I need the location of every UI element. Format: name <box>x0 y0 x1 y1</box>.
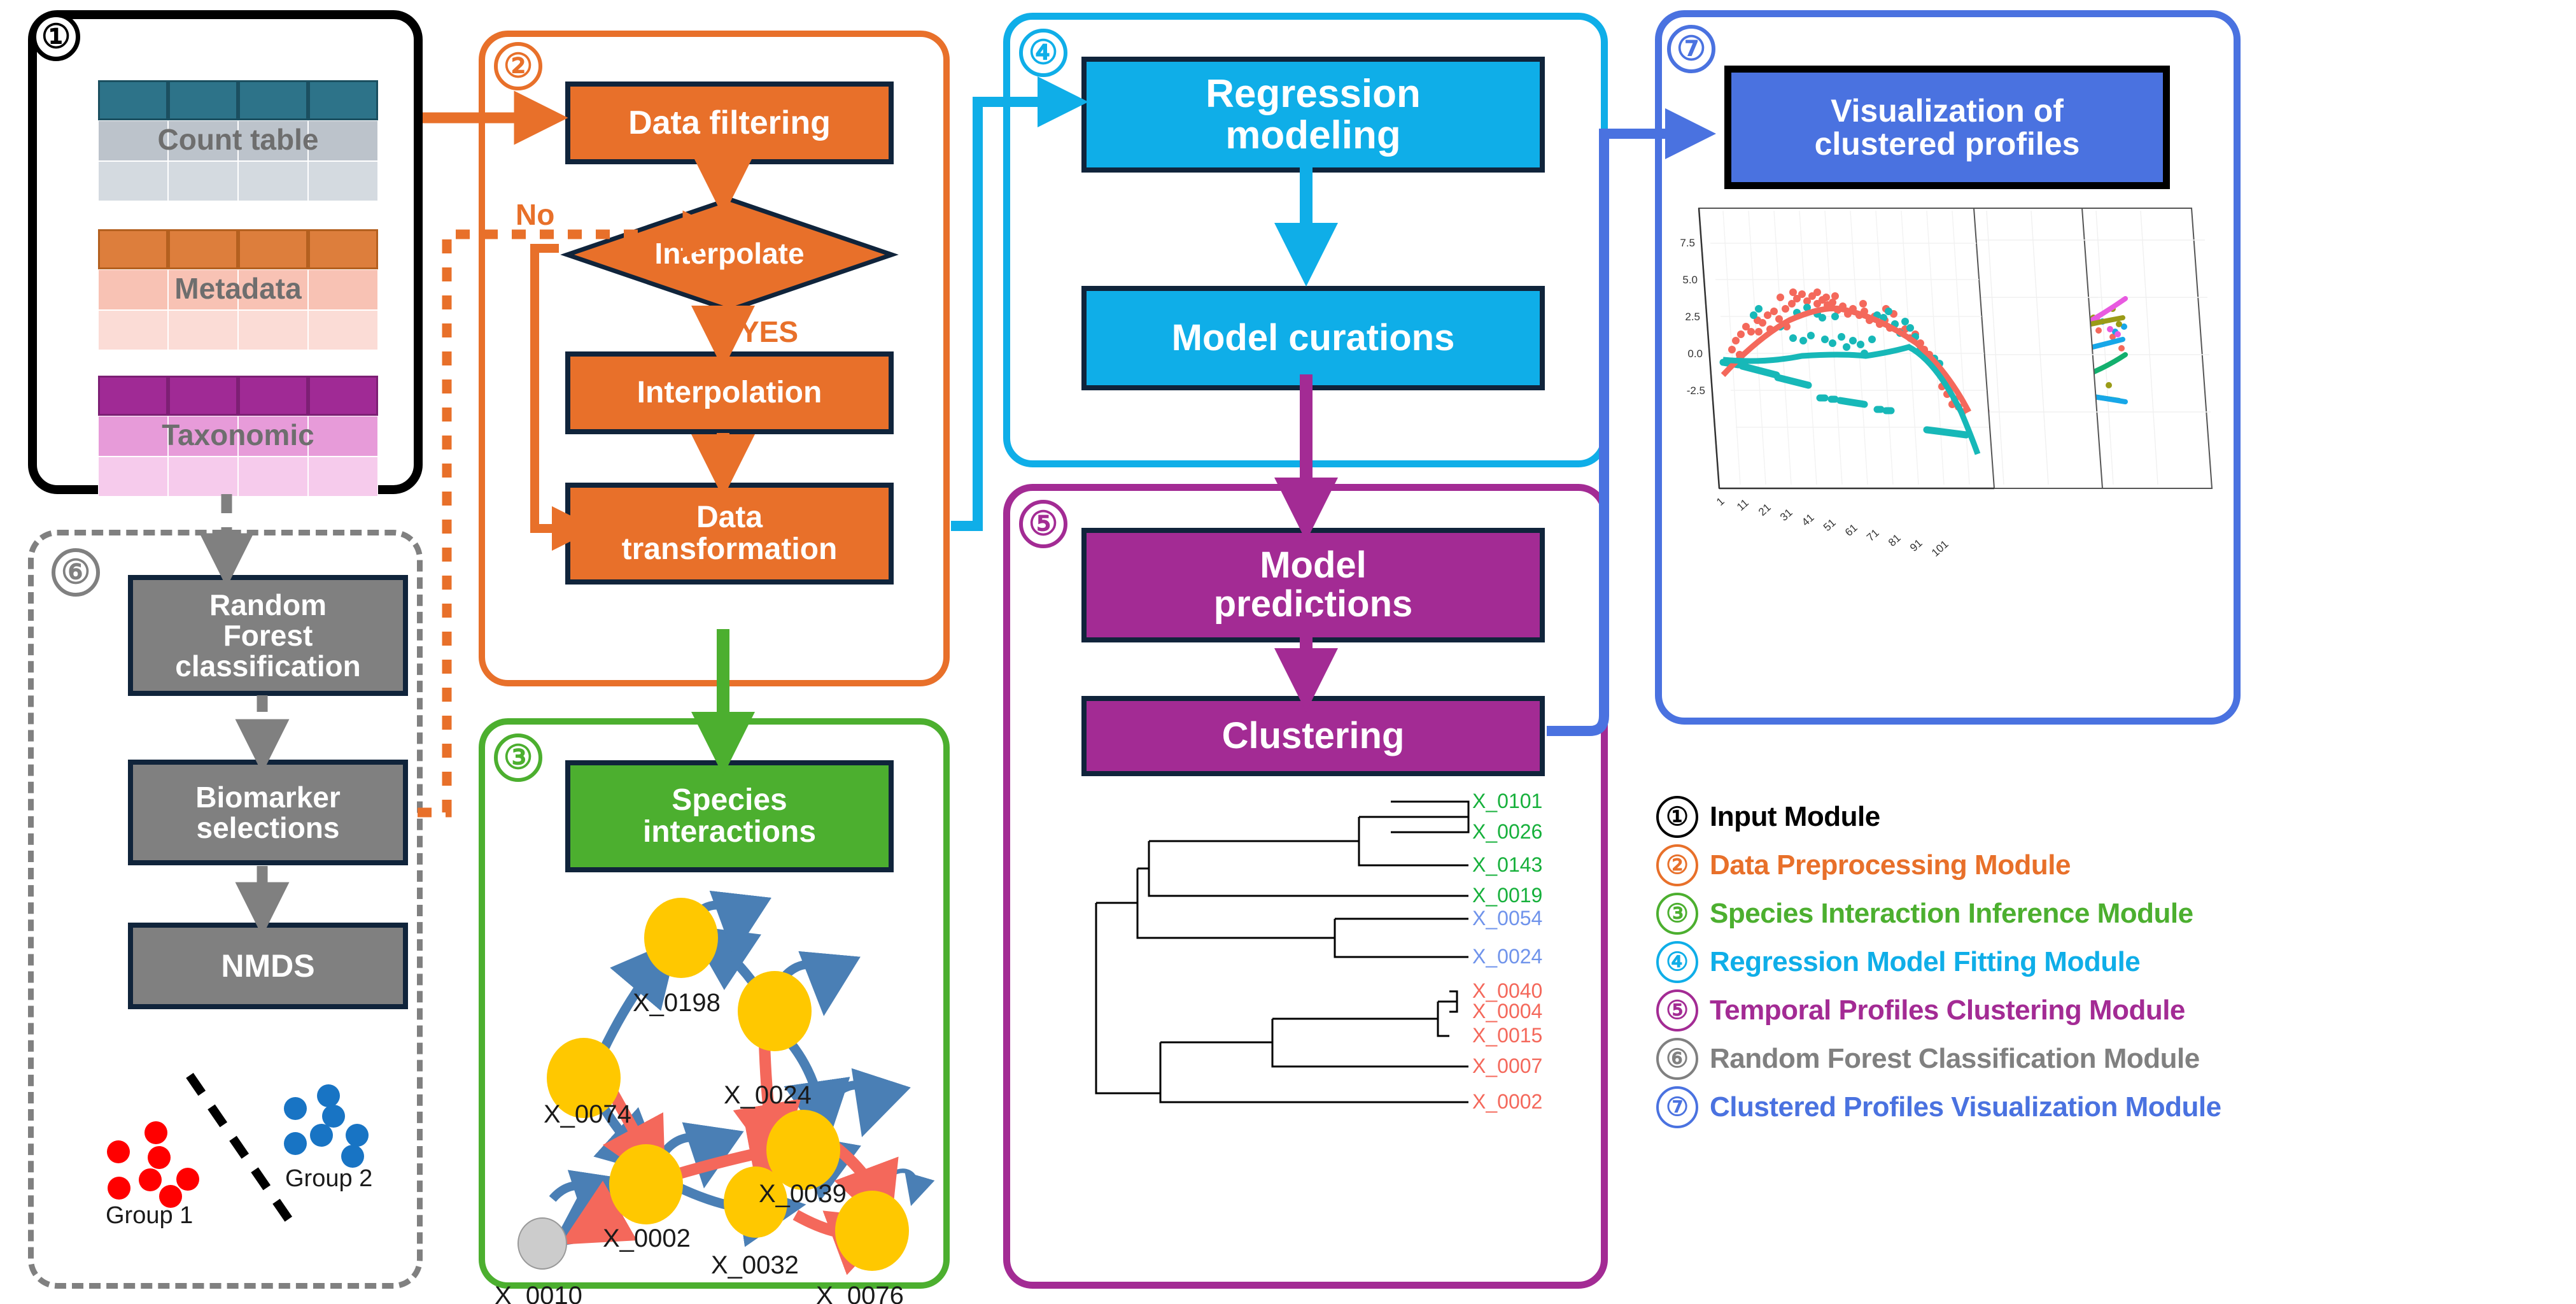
legend-label-2: Data Preprocessing Module <box>1710 849 2071 881</box>
arrow-biomarker-feedback-to-preprocessing <box>418 234 707 812</box>
legend-label-6: Random Forest Classification Module <box>1710 1043 2200 1075</box>
legend-badge-7: ⑦ <box>1656 1086 1698 1128</box>
legend-item-5: ⑤ Temporal Profiles Clustering Module <box>1656 989 2560 1031</box>
legend-item-7: ⑦ Clustered Profiles Visualization Modul… <box>1656 1086 2560 1128</box>
legend-badge-3: ③ <box>1656 893 1698 935</box>
legend-item-6: ⑥ Random Forest Classification Module <box>1656 1038 2560 1080</box>
legend-label-3: Species Interaction Inference Module <box>1710 898 2193 930</box>
legend-label-5: Temporal Profiles Clustering Module <box>1710 995 2185 1026</box>
module-legend: ① Input Module ② Data Preprocessing Modu… <box>1656 796 2560 1135</box>
legend-item-3: ③ Species Interaction Inference Module <box>1656 893 2560 935</box>
legend-badge-5: ⑤ <box>1656 989 1698 1031</box>
legend-label-1: Input Module <box>1710 801 1880 833</box>
arrow-transformation-to-regression <box>951 102 1063 526</box>
legend-label-7: Clustered Profiles Visualization Module <box>1710 1091 2221 1123</box>
legend-item-4: ④ Regression Model Fitting Module <box>1656 941 2560 983</box>
legend-item-1: ① Input Module <box>1656 796 2560 838</box>
arrow-interpolate-no <box>535 248 574 528</box>
legend-badge-4: ④ <box>1656 941 1698 983</box>
legend-badge-2: ② <box>1656 844 1698 886</box>
legend-label-4: Regression Model Fitting Module <box>1710 946 2140 978</box>
legend-badge-1: ① <box>1656 796 1698 838</box>
arrow-clustering-to-visualization <box>1547 134 1691 731</box>
legend-badge-6: ⑥ <box>1656 1038 1698 1080</box>
legend-item-2: ② Data Preprocessing Module <box>1656 844 2560 886</box>
